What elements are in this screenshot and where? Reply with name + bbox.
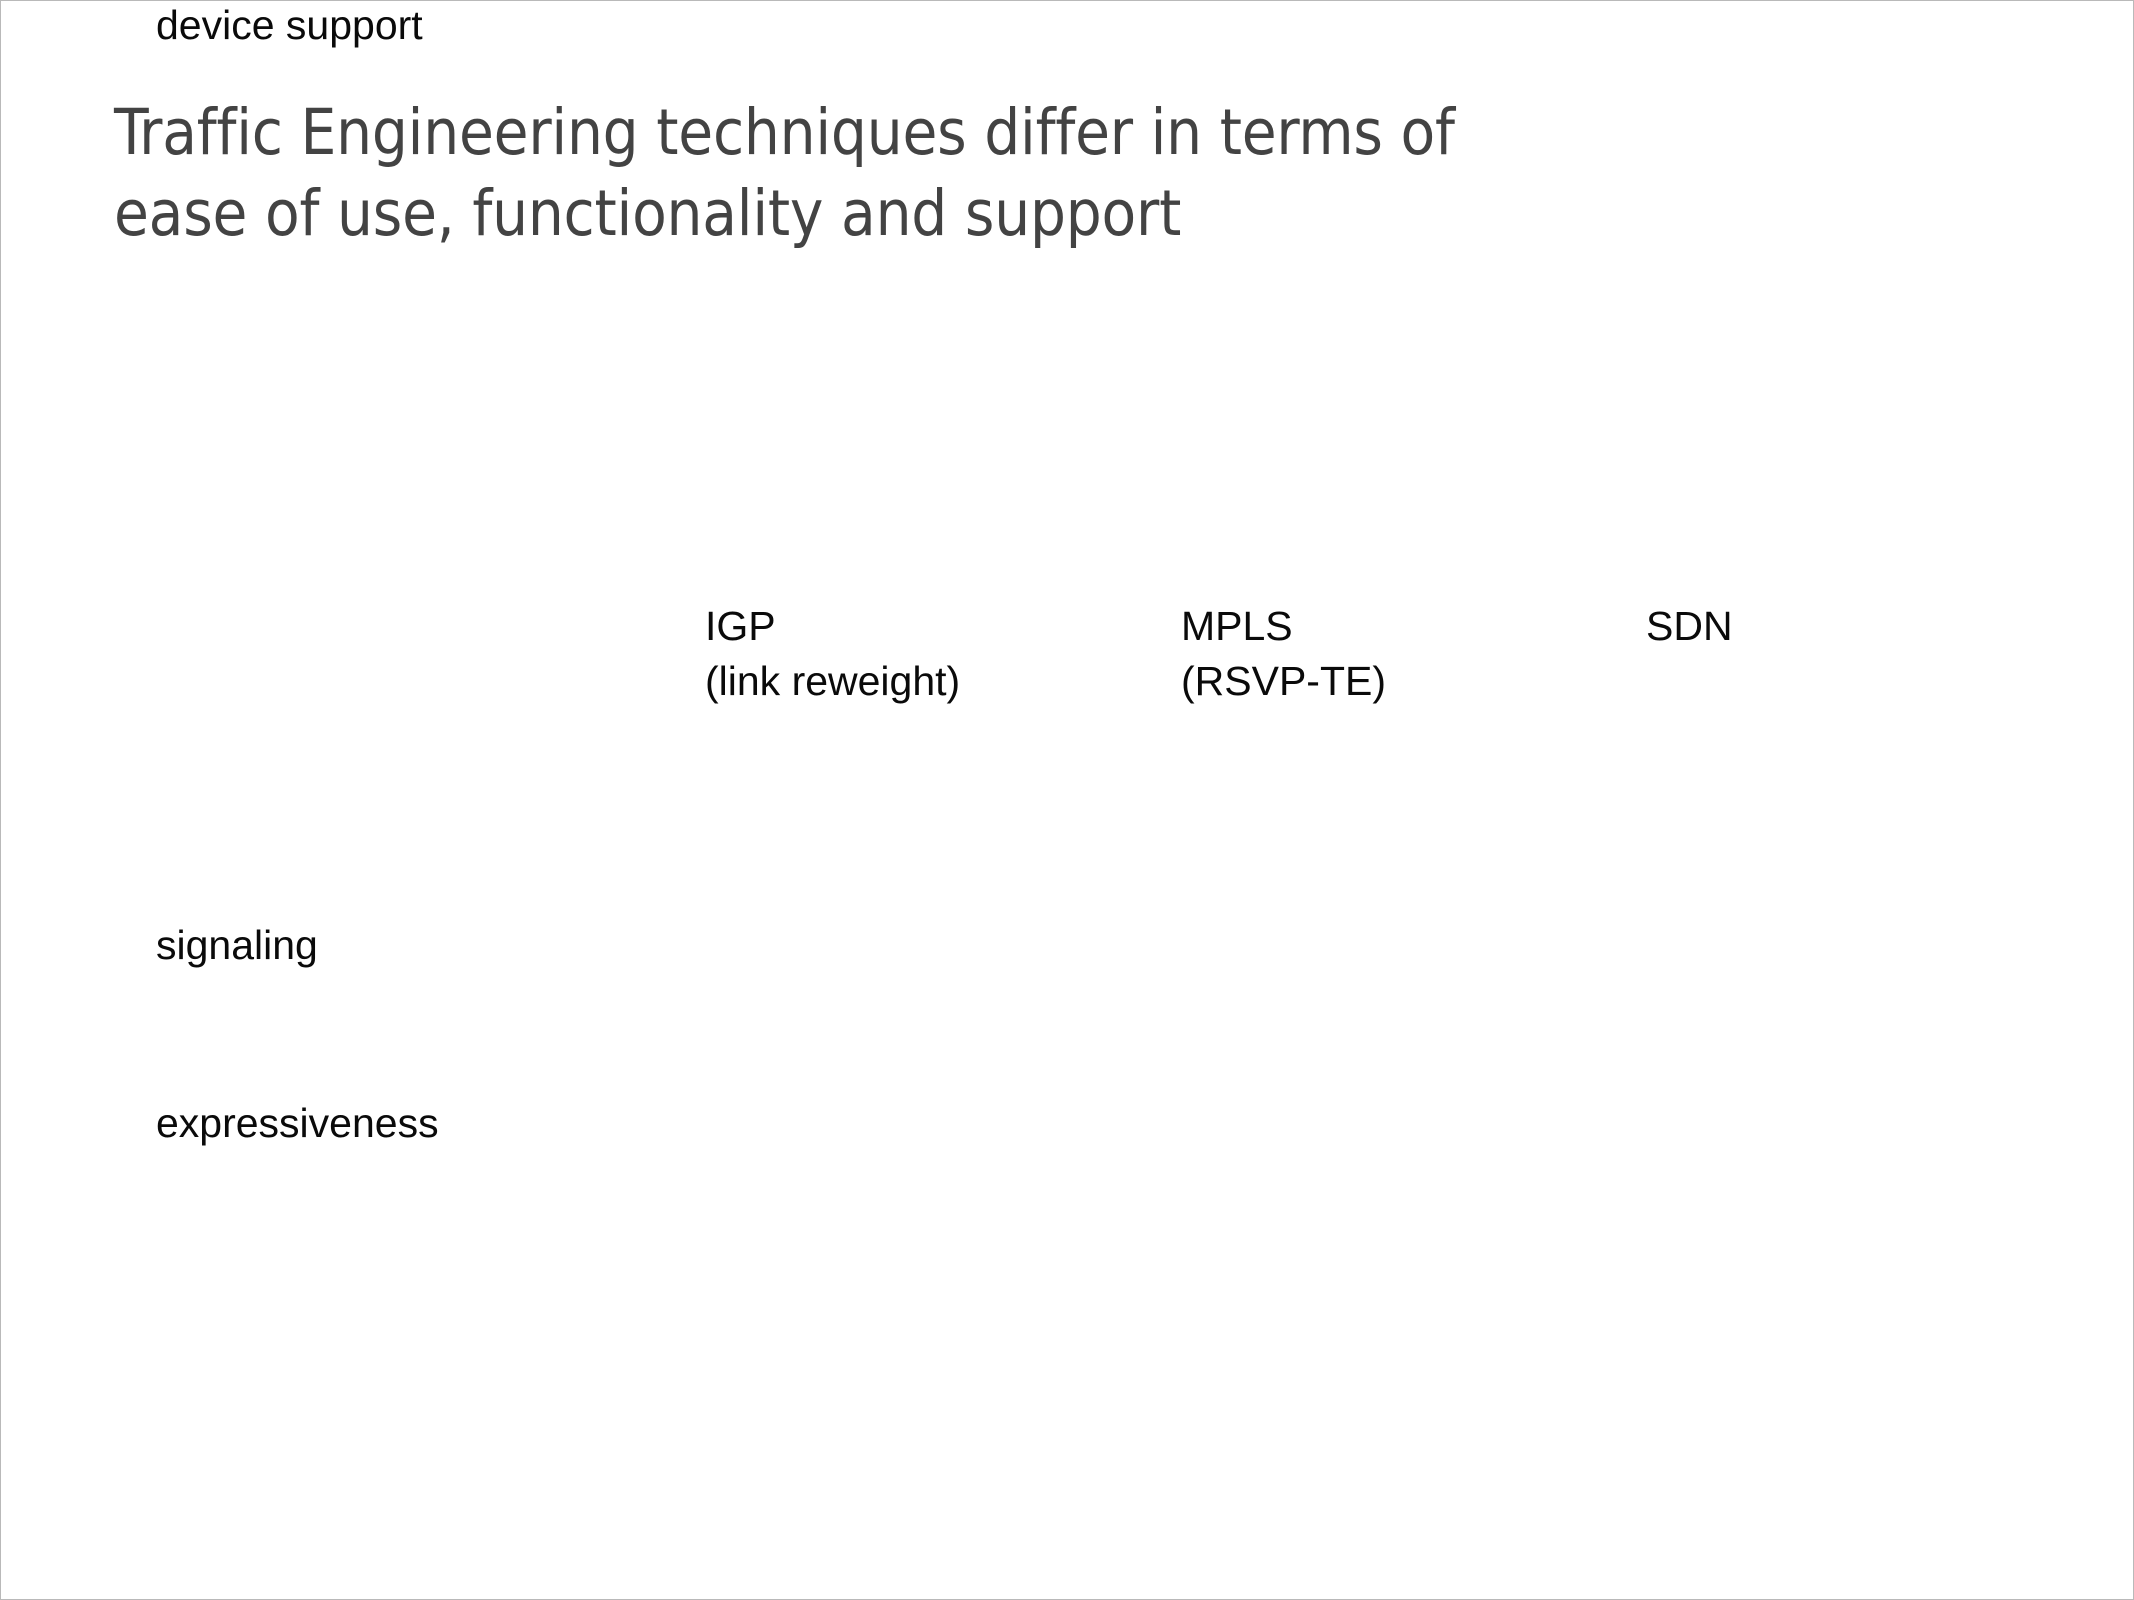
column-header-sdn: SDN [1646, 599, 1733, 654]
presentation-slide: Traffic Engineering techniques differ in… [0, 0, 2134, 1600]
column-header-igp: IGP (link reweight) [705, 599, 960, 708]
column-header-mpls: MPLS (RSVP-TE) [1181, 599, 1386, 708]
row-label-expressiveness: expressiveness [156, 1099, 439, 1148]
comparison-matrix: IGP (link reweight) MPLS (RSVP-TE) SDN s… [1, 1, 2134, 1600]
column-header-mpls-subtitle: (RSVP-TE) [1181, 654, 1386, 709]
row-label-signaling: signaling [156, 921, 318, 970]
column-header-igp-name: IGP [705, 599, 960, 654]
column-header-igp-subtitle: (link reweight) [705, 654, 960, 709]
row-label-device-support: device support [156, 1, 423, 50]
column-header-mpls-name: MPLS [1181, 599, 1386, 654]
column-header-sdn-name: SDN [1646, 599, 1733, 654]
